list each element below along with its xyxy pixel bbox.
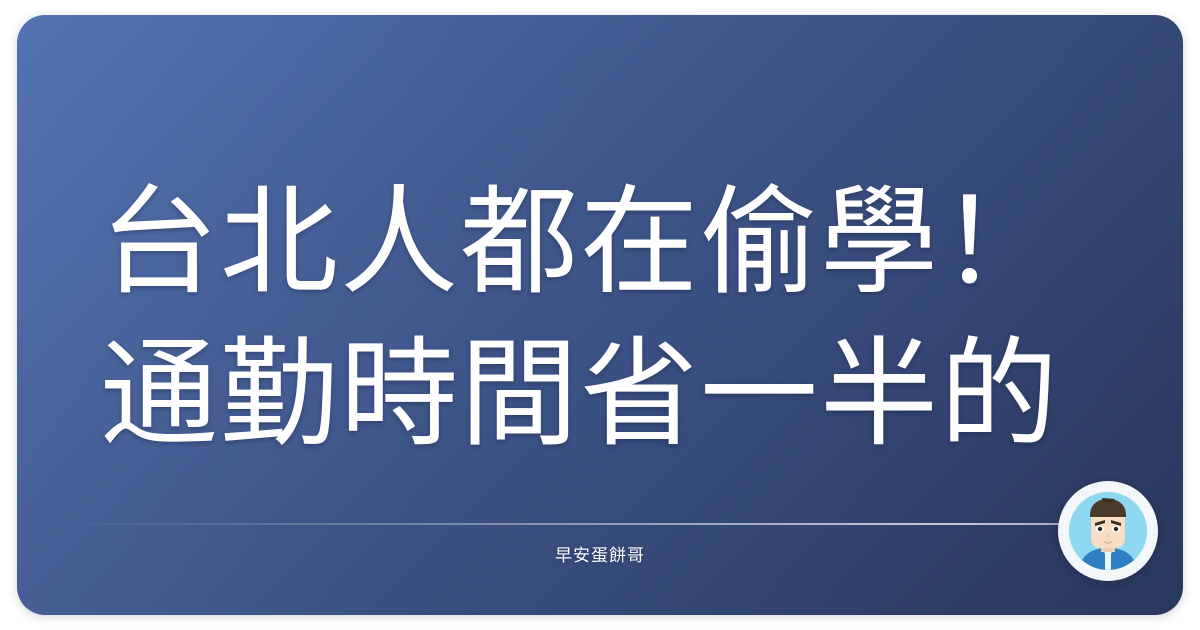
headline: 台北人都在偷學！ 通勤時間省一半的 <box>100 167 1183 471</box>
screenshot-root: 台北人都在偷學！ 通勤時間省一半的 早安蛋餅哥 <box>0 0 1200 630</box>
footer-divider <box>65 523 1075 525</box>
headline-line-1: 台北人都在偷學！ <box>100 167 1183 319</box>
author-name: 早安蛋餅哥 <box>17 541 1183 566</box>
avatar-image <box>1069 492 1147 570</box>
headline-line-2: 通勤時間省一半的 <box>100 319 1183 471</box>
quote-card: 台北人都在偷學！ 通勤時間省一半的 早安蛋餅哥 <box>17 15 1183 615</box>
user-avatar-illustration <box>1069 492 1147 570</box>
avatar <box>1058 481 1158 581</box>
